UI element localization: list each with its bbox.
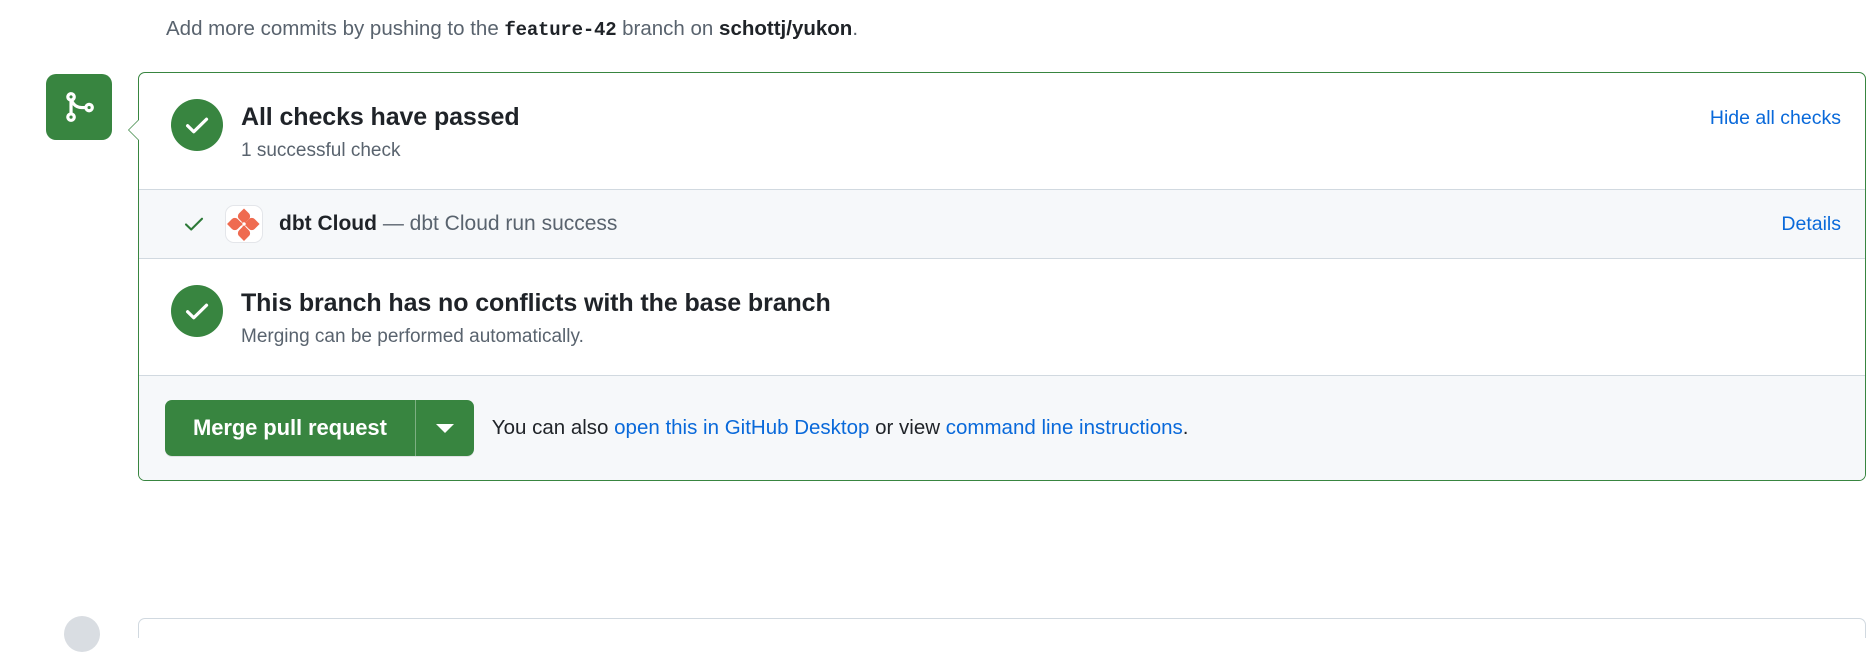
footer-note-prefix: You can also <box>492 416 609 439</box>
check-icon <box>181 211 207 237</box>
check-circle-icon <box>171 285 223 337</box>
command-line-instructions-link[interactable]: command line instructions <box>946 416 1183 439</box>
checks-status-heading: All checks have passed <box>241 100 1710 134</box>
branch-name: feature-42 <box>504 19 616 41</box>
dbt-cloud-logo-icon <box>225 205 263 243</box>
checks-list: dbt Cloud — dbt Cloud run success Detail… <box>139 189 1865 259</box>
timeline-merge-badge <box>46 74 112 140</box>
push-notice-middle: branch on <box>622 17 713 40</box>
conflicts-status-text: This branch has no conflicts with the ba… <box>241 285 1841 351</box>
check-context-name: dbt Cloud <box>279 212 377 235</box>
merge-options-dropdown-button[interactable] <box>416 400 474 456</box>
checks-status-text: All checks have passed 1 successful chec… <box>241 99 1710 165</box>
merge-footer-note: You can also open this in GitHub Desktop… <box>492 413 1189 443</box>
push-more-commits-notice: Add more commits by pushing to the featu… <box>166 15 858 44</box>
check-separator: — <box>383 212 404 235</box>
chevron-down-icon <box>436 424 454 433</box>
conflicts-status-subtitle: Merging can be performed automatically. <box>241 323 1841 351</box>
footer-note-suffix: . <box>1183 416 1189 439</box>
next-timeline-avatar <box>64 616 100 652</box>
check-description: dbt Cloud run success <box>410 212 618 235</box>
next-timeline-box <box>138 618 1866 638</box>
push-notice-prefix: Add more commits by pushing to the <box>166 17 499 40</box>
hide-all-checks-link[interactable]: Hide all checks <box>1710 107 1841 130</box>
conflicts-status-section: This branch has no conflicts with the ba… <box>139 259 1865 376</box>
merge-pull-request-button[interactable]: Merge pull request <box>165 400 416 456</box>
check-details-link[interactable]: Details <box>1781 213 1841 236</box>
check-row-dbt-cloud[interactable]: dbt Cloud — dbt Cloud run success Detail… <box>139 190 1865 258</box>
merge-status-box: All checks have passed 1 successful chec… <box>138 72 1866 481</box>
checks-status-section: All checks have passed 1 successful chec… <box>139 73 1865 189</box>
merge-button-group: Merge pull request <box>165 400 474 456</box>
conflicts-status-heading: This branch has no conflicts with the ba… <box>241 286 1841 320</box>
check-label: dbt Cloud — dbt Cloud run success <box>279 209 1781 239</box>
push-notice-suffix: . <box>852 17 858 40</box>
footer-note-middle: or view <box>875 416 940 439</box>
repository-name: schottj/yukon <box>719 17 852 40</box>
merge-action-footer: Merge pull request You can also open thi… <box>139 376 1865 480</box>
check-circle-icon <box>171 99 223 151</box>
checks-status-subtitle: 1 successful check <box>241 137 1710 165</box>
git-merge-icon <box>62 90 96 124</box>
open-in-github-desktop-link[interactable]: open this in GitHub Desktop <box>614 416 869 439</box>
